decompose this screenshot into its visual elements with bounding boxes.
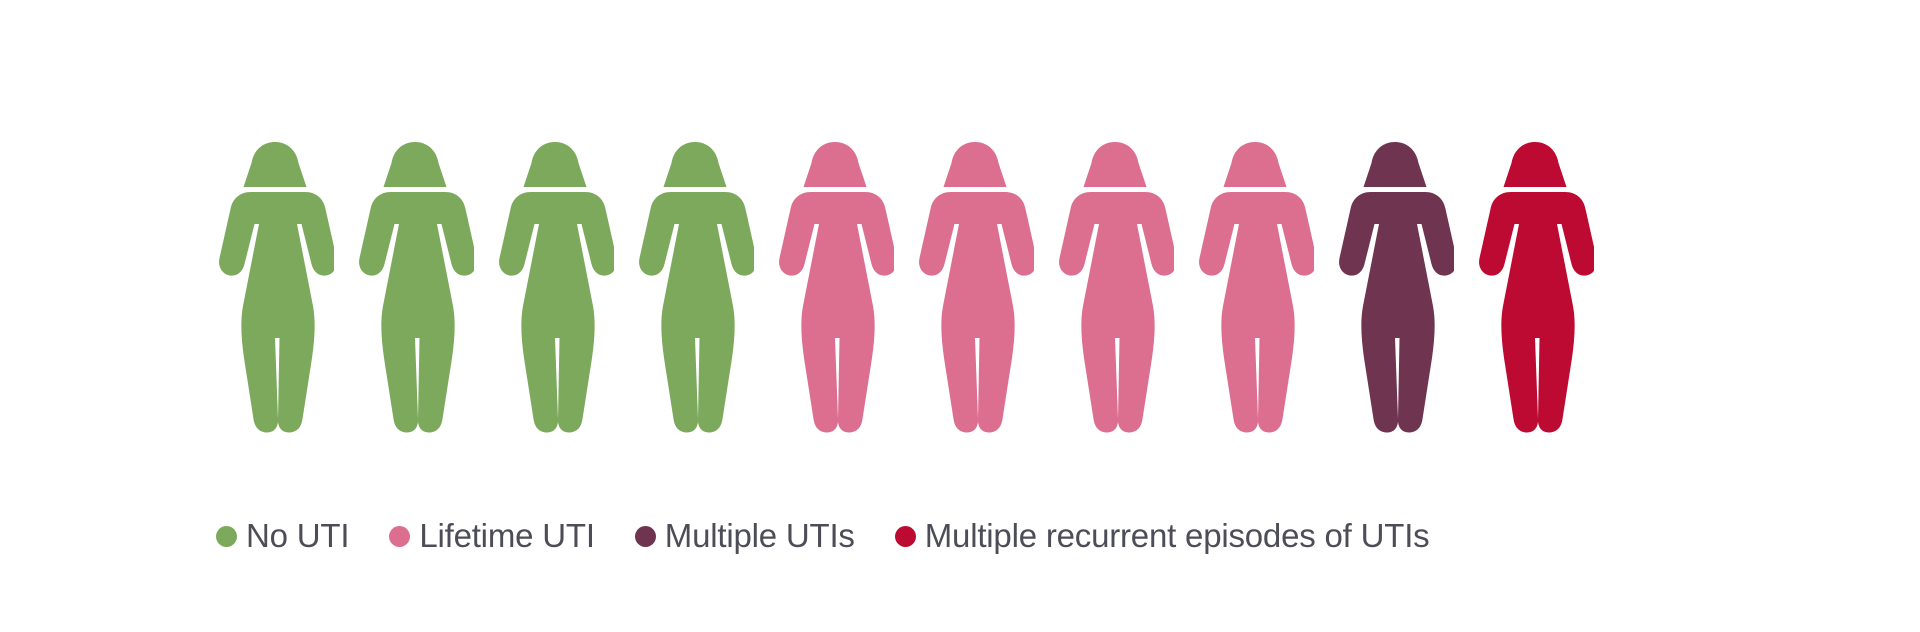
female-figure-icon [216, 140, 334, 440]
female-figure-icon [1196, 140, 1314, 440]
female-figure-icon [496, 140, 614, 440]
female-figure-icon [776, 140, 894, 440]
pictogram-row [216, 140, 1700, 440]
legend-item[interactable]: Multiple UTIs [635, 517, 855, 555]
legend-label: Lifetime UTI [419, 517, 594, 555]
legend-label: Multiple recurrent episodes of UTIs [925, 517, 1430, 555]
legend-label: Multiple UTIs [665, 517, 855, 555]
infographic-canvas: No UTILifetime UTIMultiple UTIsMultiple … [0, 0, 1920, 632]
legend-item[interactable]: Lifetime UTI [389, 517, 594, 555]
female-figure-icon [1476, 140, 1594, 440]
female-figure-icon [1056, 140, 1174, 440]
legend-color-dot-icon [216, 526, 237, 547]
legend-item[interactable]: Multiple recurrent episodes of UTIs [895, 517, 1430, 555]
legend-item[interactable]: No UTI [216, 517, 349, 555]
legend-label: No UTI [246, 517, 349, 555]
female-figure-icon [916, 140, 1034, 440]
female-figure-icon [356, 140, 474, 440]
legend-color-dot-icon [389, 526, 410, 547]
legend-color-dot-icon [635, 526, 656, 547]
legend-color-dot-icon [895, 526, 916, 547]
chart-legend: No UTILifetime UTIMultiple UTIsMultiple … [216, 508, 1716, 564]
female-figure-icon [1336, 140, 1454, 440]
female-figure-icon [636, 140, 754, 440]
